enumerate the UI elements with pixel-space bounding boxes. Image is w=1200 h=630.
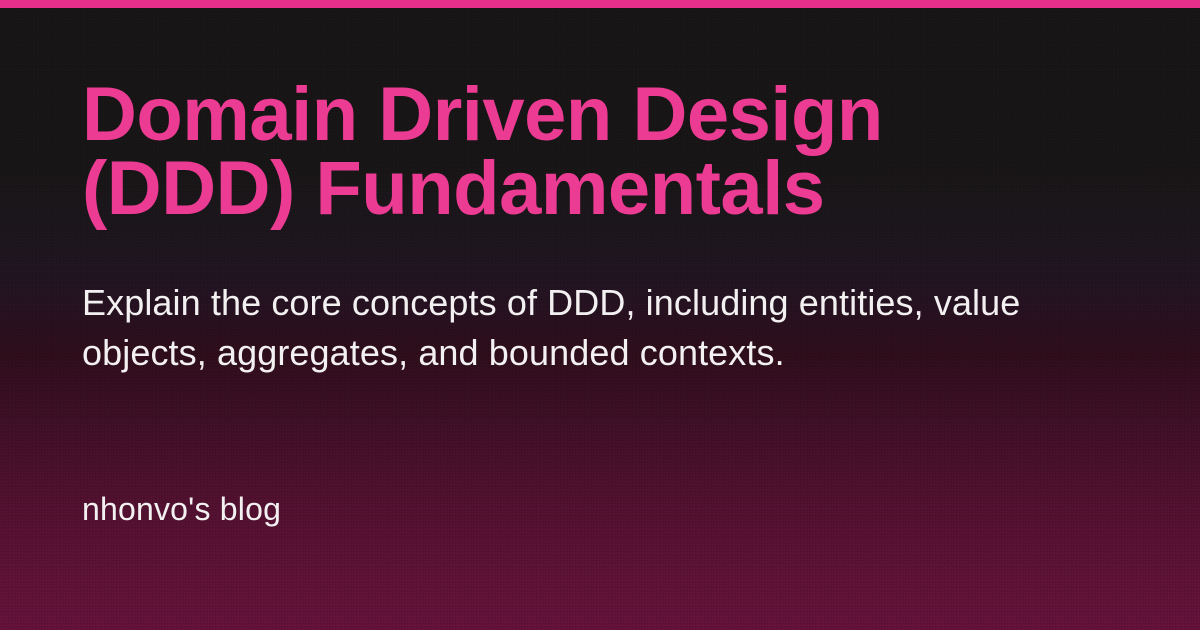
og-card: Domain Driven Design (DDD) Fundamentals … (0, 0, 1200, 630)
top-accent-bar (0, 0, 1200, 8)
page-subtitle: Explain the core concepts of DDD, includ… (82, 278, 1027, 378)
card-content: Domain Driven Design (DDD) Fundamentals … (82, 0, 1122, 630)
site-name-footer: nhonvo's blog (82, 489, 281, 529)
page-title: Domain Driven Design (DDD) Fundamentals (82, 78, 982, 227)
